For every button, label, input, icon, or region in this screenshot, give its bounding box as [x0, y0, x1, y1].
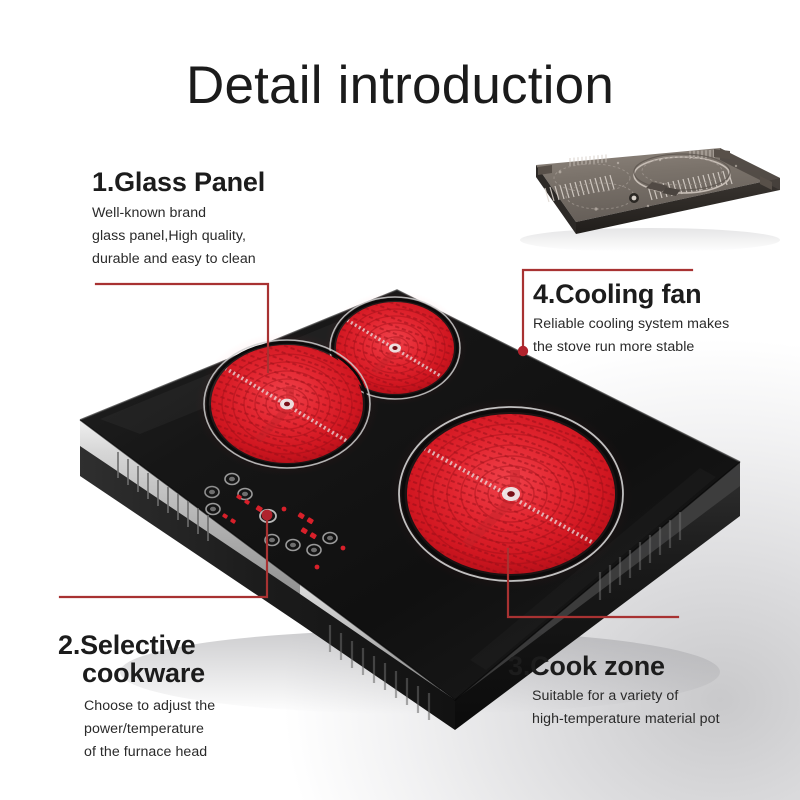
callout-1-body-line: glass panel,High quality, [92, 225, 265, 248]
callout-2-selective-cookware: 2.Selective cookware Choose to adjust th… [58, 631, 318, 764]
callout-3-body-line: high-temperature material pot [532, 708, 720, 731]
callout-2-heading: 2.Selective cookware [58, 631, 318, 688]
callout-2-heading-line1: 2.Selective [58, 630, 195, 660]
callout-3-body-line: Suitable for a variety of [532, 685, 720, 708]
infographic-canvas: Detail introduction 1.Glass Panel Well-k… [0, 0, 800, 800]
callout-4-body: Reliable cooling system makes the stove … [533, 313, 729, 359]
page-title: Detail introduction [0, 58, 800, 114]
callout-4-body-line: Reliable cooling system makes [533, 313, 729, 336]
callout-3-heading: 3.Cook zone [508, 651, 720, 681]
callout-3-body: Suitable for a variety of high-temperatu… [508, 685, 720, 731]
callout-1-heading: 1.Glass Panel [92, 167, 265, 197]
callout-2-heading-line2: cookware [58, 659, 318, 687]
callout-4-body-line: the stove run more stable [533, 336, 729, 359]
callout-3-cook-zone: 3.Cook zone Suitable for a variety of hi… [508, 651, 720, 731]
callout-1-glass-panel: 1.Glass Panel Well-known brand glass pan… [92, 167, 265, 271]
callout-1-body-line: Well-known brand [92, 202, 265, 225]
callout-4-heading: 4.Cooling fan [533, 279, 729, 309]
callout-2-body: Choose to adjust the power/temperature o… [58, 695, 318, 764]
callout-2-body-line: power/temperature [84, 718, 318, 741]
callout-2-body-line: of the furnace head [84, 741, 318, 764]
callout-1-body-line: durable and easy to clean [92, 248, 265, 271]
callout-2-body-line: Choose to adjust the [84, 695, 318, 718]
callout-4-cooling-fan: 4.Cooling fan Reliable cooling system ma… [533, 279, 729, 359]
callout-1-body: Well-known brand glass panel,High qualit… [92, 202, 265, 271]
